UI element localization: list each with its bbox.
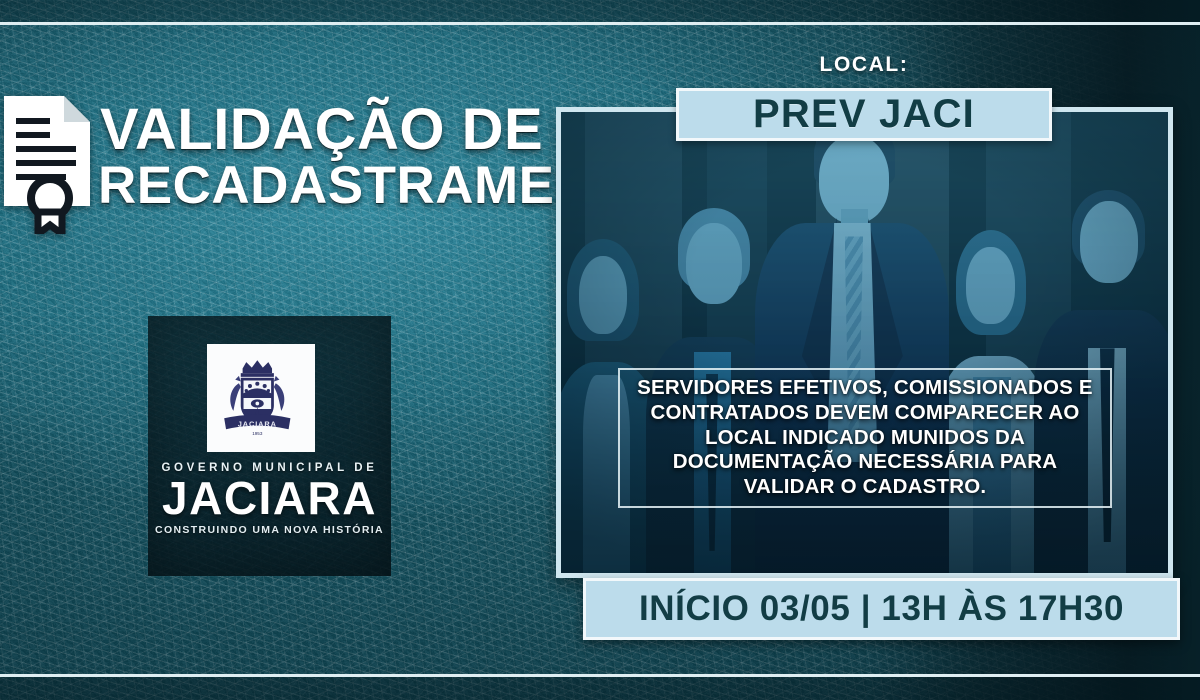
message-text: SERVIDORES EFETIVOS, COMISSIONADOS E CON… bbox=[630, 376, 1100, 500]
local-label: LOCAL: bbox=[556, 53, 1172, 77]
schedule-text: INÍCIO 03/05 | 13H ÀS 17H30 bbox=[639, 589, 1124, 629]
city-logo-panel: JACIARA 1953 GOVERNO MUNICIPAL DE JACIAR… bbox=[148, 316, 391, 576]
bottom-edge-band bbox=[0, 677, 1200, 700]
schedule-banner: INÍCIO 03/05 | 13H ÀS 17H30 bbox=[583, 578, 1180, 640]
top-edge-band bbox=[0, 0, 1200, 22]
logo-city-name: JACIARA bbox=[148, 475, 391, 522]
poster-root: VALIDAÇÃO DE RECADASTRAMENTO bbox=[0, 0, 1200, 700]
message-box: SERVIDORES EFETIVOS, COMISSIONADOS E CON… bbox=[618, 368, 1112, 508]
svg-text:JACIARA: JACIARA bbox=[238, 420, 277, 429]
city-logo-text: GOVERNO MUNICIPAL DE JACIARA CONSTRUINDO… bbox=[148, 462, 391, 536]
title-line-2: RECADASTRAMENTO bbox=[98, 161, 540, 211]
left-column: VALIDAÇÃO DE RECADASTRAMENTO bbox=[0, 22, 545, 674]
title-line-1: VALIDAÇÃO DE bbox=[100, 102, 540, 157]
certificate-document-icon bbox=[2, 94, 98, 234]
svg-text:1953: 1953 bbox=[252, 431, 263, 436]
poster-title: VALIDAÇÃO DE RECADASTRAMENTO bbox=[100, 102, 540, 211]
local-value-box: PREV JACI bbox=[676, 88, 1052, 141]
bottom-hairline bbox=[0, 674, 1200, 677]
logo-tagline: CONSTRUINDO UMA NOVA HISTÓRIA bbox=[148, 524, 391, 536]
jaciara-coat-of-arms-icon: JACIARA 1953 bbox=[207, 344, 315, 452]
local-value-text: PREV JACI bbox=[753, 92, 975, 137]
